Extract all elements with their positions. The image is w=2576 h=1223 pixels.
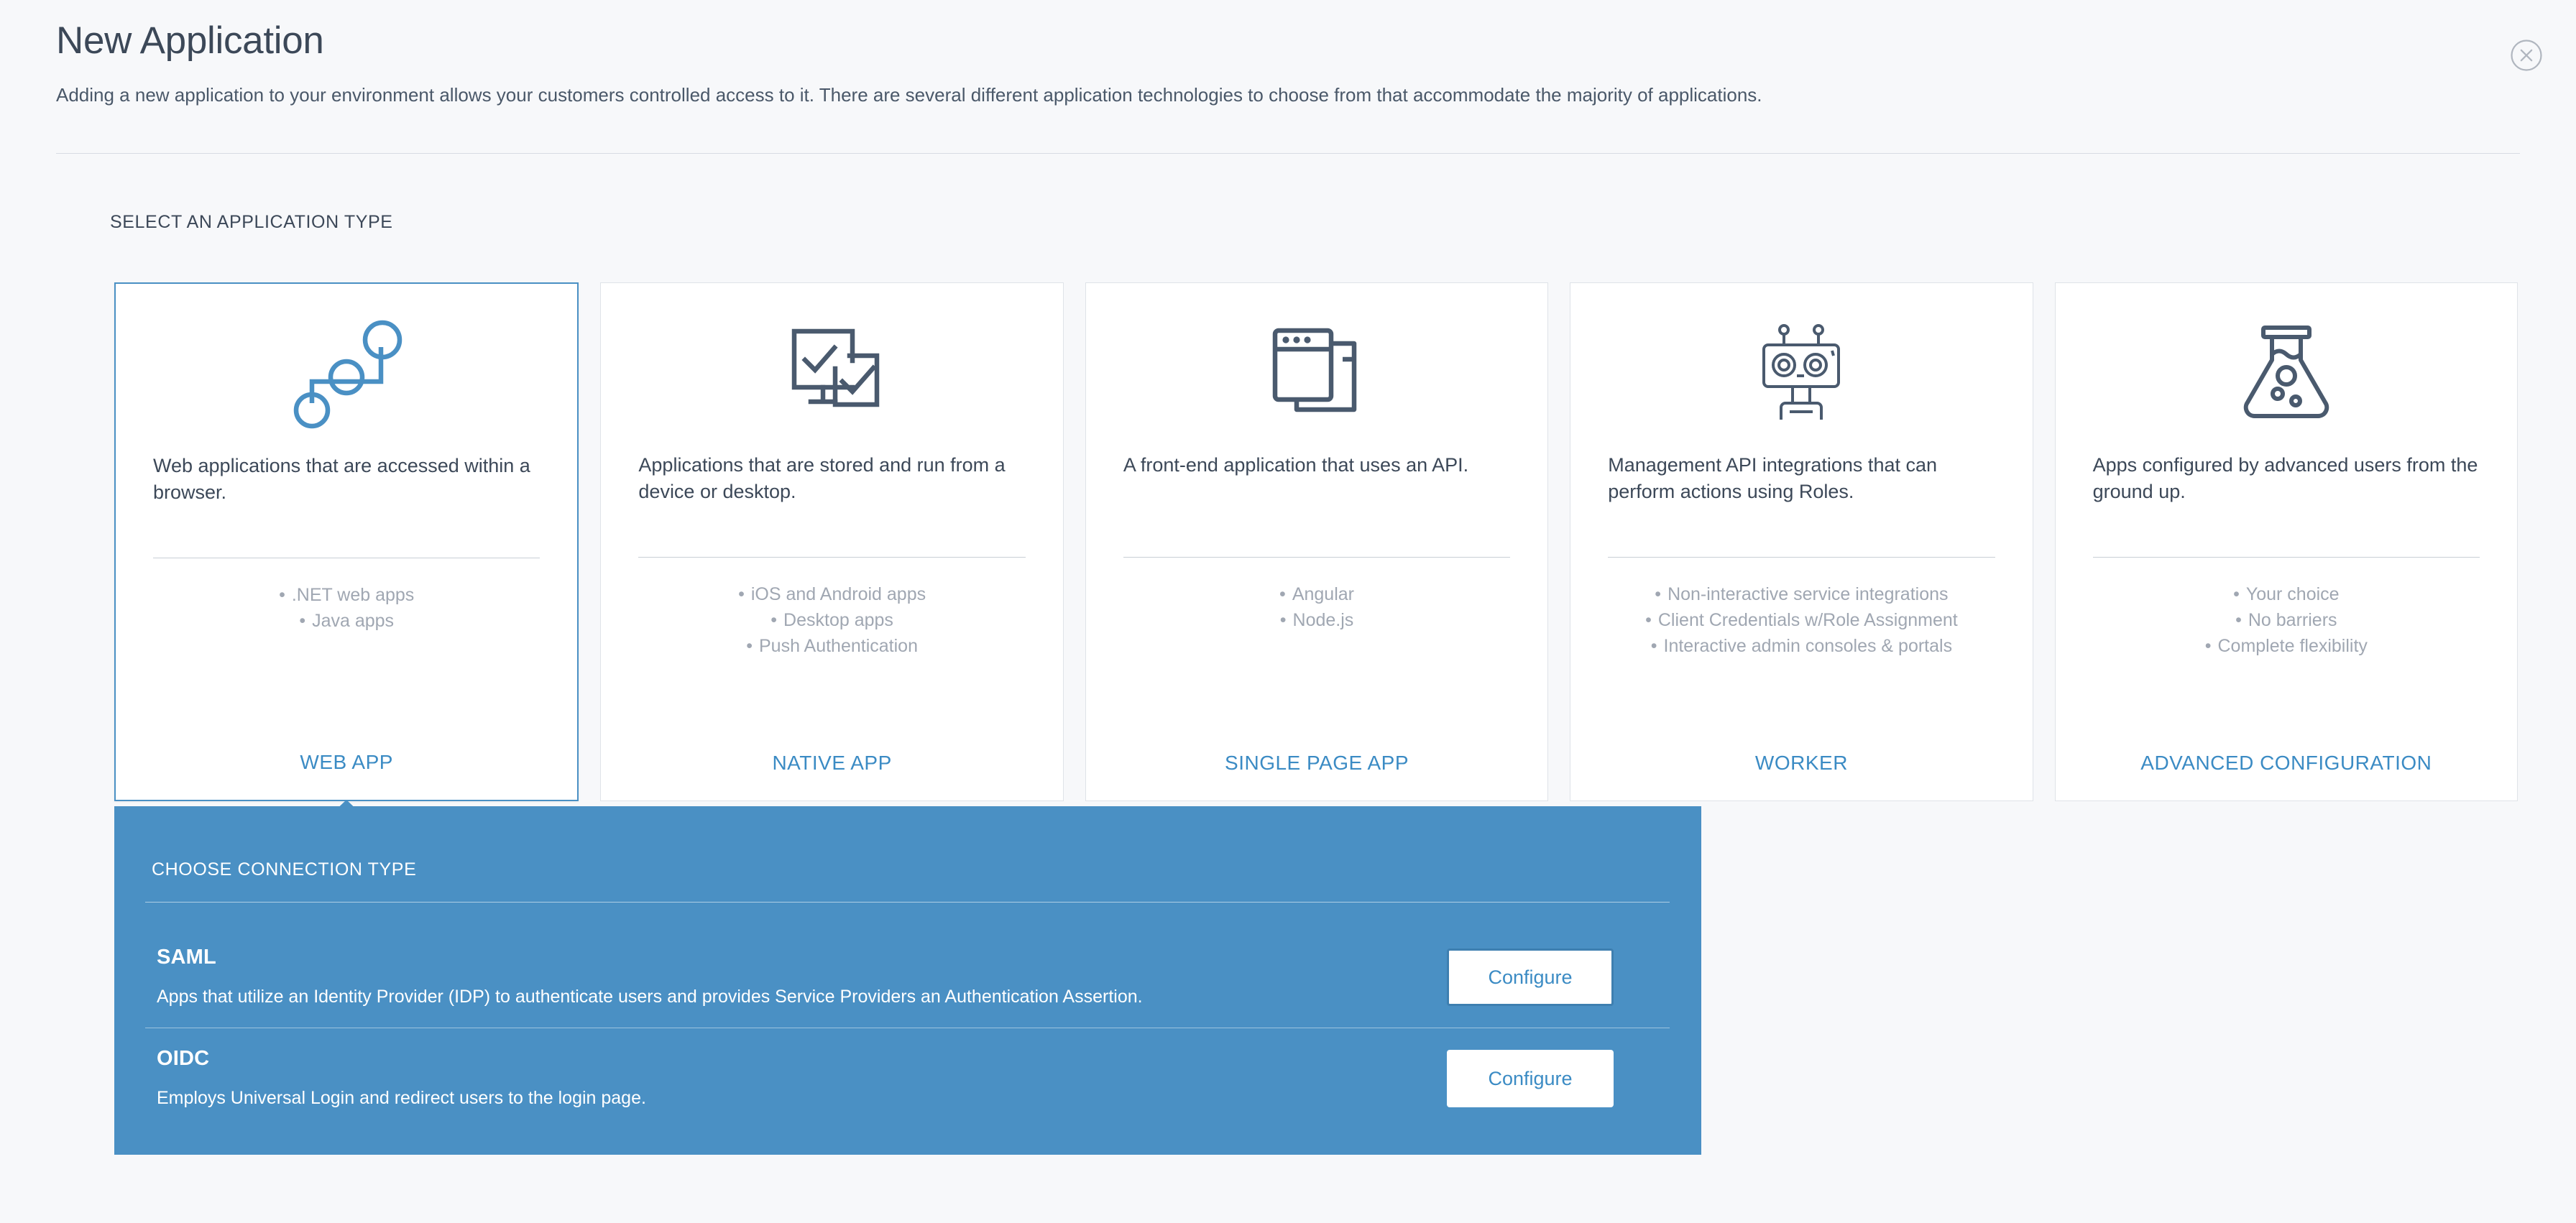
card-feature-list: iOS and Android apps Desktop apps Push A… bbox=[601, 581, 1062, 659]
section-label: SELECT AN APPLICATION TYPE bbox=[110, 212, 393, 233]
browser-windows-icon bbox=[1086, 283, 1547, 452]
app-type-card-worker[interactable]: Management API integrations that can per… bbox=[1570, 282, 2033, 801]
page-subtitle: Adding a new application to your environ… bbox=[56, 82, 2520, 109]
card-feature-list: Non-interactive service integrations Cli… bbox=[1570, 581, 2032, 659]
card-description: A front-end application that uses an API… bbox=[1086, 452, 1547, 547]
new-application-page: New Application Adding a new application… bbox=[0, 0, 2576, 1223]
card-divider bbox=[2093, 557, 2480, 558]
connection-name: SAML bbox=[157, 946, 1447, 969]
close-icon[interactable] bbox=[2510, 39, 2543, 72]
card-divider bbox=[638, 557, 1025, 558]
page-title: New Application bbox=[56, 20, 2520, 62]
app-type-card-native-app[interactable]: Applications that are stored and run fro… bbox=[600, 282, 1063, 801]
card-description: Management API integrations that can per… bbox=[1570, 452, 2032, 547]
card-cta-label[interactable]: SINGLE PAGE APP bbox=[1225, 752, 1409, 775]
list-item: iOS and Android apps bbox=[601, 581, 1062, 607]
connection-description: Apps that utilize an Identity Provider (… bbox=[157, 985, 1447, 1009]
connection-row-oidc: OIDC Employs Universal Login and redirec… bbox=[145, 1028, 1670, 1129]
connection-row-saml: SAML Apps that utilize an Identity Provi… bbox=[145, 927, 1670, 1028]
card-cta-label[interactable]: NATIVE APP bbox=[772, 752, 891, 775]
list-item: .NET web apps bbox=[116, 582, 577, 608]
list-item: Desktop apps bbox=[601, 607, 1062, 633]
list-item: Push Authentication bbox=[601, 633, 1062, 659]
card-divider bbox=[153, 558, 540, 558]
card-divider bbox=[1123, 557, 1510, 558]
card-feature-list: Your choice No barriers Complete flexibi… bbox=[2056, 581, 2517, 659]
list-item: Client Credentials w/Role Assignment bbox=[1570, 607, 2032, 633]
list-item: Interactive admin consoles & portals bbox=[1570, 633, 2032, 659]
flask-icon bbox=[2056, 283, 2517, 452]
configure-oidc-button[interactable]: Configure bbox=[1447, 1050, 1614, 1107]
card-feature-list: .NET web apps Java apps bbox=[116, 582, 577, 634]
list-item: Java apps bbox=[116, 608, 577, 634]
list-item: Non-interactive service integrations bbox=[1570, 581, 2032, 607]
app-type-card-web-app[interactable]: Web applications that are accessed withi… bbox=[114, 282, 579, 801]
node-graph-icon bbox=[116, 284, 577, 453]
robot-icon bbox=[1570, 283, 2032, 452]
connection-name: OIDC bbox=[157, 1047, 1447, 1071]
list-item: No barriers bbox=[2056, 607, 2517, 633]
configure-saml-button[interactable]: Configure bbox=[1447, 949, 1614, 1006]
card-divider bbox=[1608, 557, 1995, 558]
card-cta-label[interactable]: WORKER bbox=[1755, 752, 1848, 775]
list-item: Angular bbox=[1086, 581, 1547, 607]
list-item: Node.js bbox=[1086, 607, 1547, 633]
connection-panel-label: CHOOSE CONNECTION TYPE bbox=[152, 859, 416, 880]
header-divider bbox=[56, 153, 2520, 154]
connection-panel-divider bbox=[145, 902, 1670, 903]
card-description: Applications that are stored and run fro… bbox=[601, 452, 1062, 547]
card-cta-label[interactable]: WEB APP bbox=[300, 751, 393, 774]
app-type-card-advanced-configuration[interactable]: Apps configured by advanced users from t… bbox=[2055, 282, 2518, 801]
card-feature-list: Angular Node.js bbox=[1086, 581, 1547, 633]
card-description: Apps configured by advanced users from t… bbox=[2056, 452, 2517, 547]
desktop-and-device-check-icon bbox=[601, 283, 1062, 452]
application-type-cards: Web applications that are accessed withi… bbox=[114, 282, 2518, 801]
list-item: Your choice bbox=[2056, 581, 2517, 607]
connection-type-panel: CHOOSE CONNECTION TYPE SAML Apps that ut… bbox=[114, 806, 1701, 1155]
card-cta-label[interactable]: ADVANCED CONFIGURATION bbox=[2140, 752, 2432, 775]
app-type-card-single-page-app[interactable]: A front-end application that uses an API… bbox=[1085, 282, 1548, 801]
list-item: Complete flexibility bbox=[2056, 633, 2517, 659]
card-description: Web applications that are accessed withi… bbox=[116, 453, 577, 548]
connection-description: Employs Universal Login and redirect use… bbox=[157, 1086, 1447, 1110]
page-header: New Application Adding a new application… bbox=[56, 20, 2520, 109]
